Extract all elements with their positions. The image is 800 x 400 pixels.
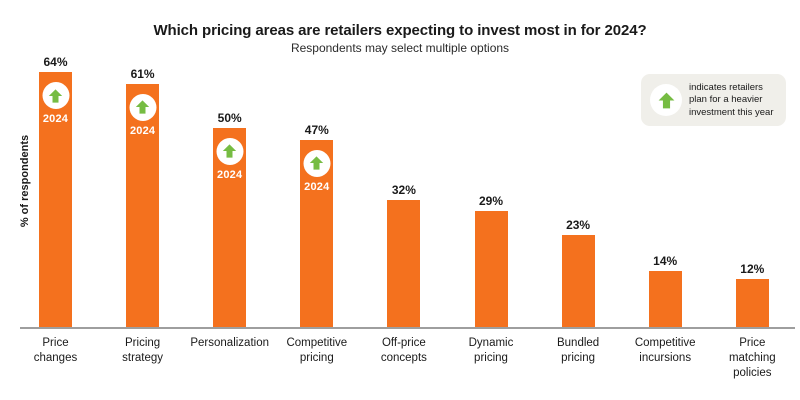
up-arrow-icon — [303, 150, 330, 177]
x-axis-tick-label-line: incursions — [617, 351, 714, 366]
x-axis-tick-label-line: Off-price — [355, 336, 452, 351]
bar-value-label: 14% — [625, 254, 706, 268]
bar-year-label: 2024 — [203, 169, 256, 181]
bar-value-label: 23% — [538, 218, 619, 232]
up-arrow-icon — [216, 138, 243, 165]
x-axis-tick-label: Pricematchingpolicies — [704, 336, 800, 381]
x-axis-tick-label-line: Competitive — [268, 336, 365, 351]
x-axis-tick-label: Pricingstrategy — [94, 336, 191, 366]
x-axis-tick-label: Dynamicpricing — [443, 336, 540, 366]
x-axis-tick-label-line: Competitive — [617, 336, 714, 351]
chart-container: Which pricing areas are retailers expect… — [0, 0, 800, 400]
x-axis-tick-label-line: Bundled — [530, 336, 627, 351]
x-axis-tick-label-line: concepts — [355, 351, 452, 366]
bar-value-label: 50% — [189, 111, 270, 125]
bar-value-label: 61% — [102, 67, 183, 81]
x-axis-tick-label: Bundledpricing — [530, 336, 627, 366]
bar[interactable] — [39, 72, 72, 327]
x-axis-tick-label: Pricechanges — [7, 336, 104, 366]
bar-value-label: 29% — [451, 194, 532, 208]
legend-box: indicates retailers plan for a heavier i… — [641, 74, 786, 126]
x-axis-tick-label-line: Dynamic — [443, 336, 540, 351]
bar-value-label: 64% — [15, 55, 96, 69]
x-axis-tick-label-line: policies — [704, 366, 800, 381]
legend-line-3: investment this year — [689, 107, 784, 119]
bar[interactable] — [736, 279, 769, 327]
x-axis-tick-label-line: strategy — [94, 351, 191, 366]
up-arrow-icon — [42, 82, 69, 109]
x-axis-tick-label-line: matching — [704, 351, 800, 366]
x-axis-tick-label-line: pricing — [530, 351, 627, 366]
legend-line-2: plan for a heavier — [689, 94, 784, 106]
x-axis-tick-label: Competitivepricing — [268, 336, 365, 366]
bar-value-label: 12% — [712, 262, 793, 276]
legend-line-1: indicates retailers — [689, 82, 784, 94]
bar[interactable] — [562, 235, 595, 327]
x-axis-tick-label: Personalization — [181, 336, 278, 351]
x-axis-tick-label-line: Price — [7, 336, 104, 351]
bar[interactable] — [387, 200, 420, 328]
bar[interactable] — [649, 271, 682, 327]
bar[interactable] — [475, 211, 508, 327]
x-axis-tick-label-line: Personalization — [181, 336, 278, 351]
x-axis-tick-label: Off-priceconcepts — [355, 336, 452, 366]
bar-value-label: 47% — [276, 123, 357, 137]
x-axis-tick-label-line: pricing — [443, 351, 540, 366]
x-axis-tick-label: Competitiveincursions — [617, 336, 714, 366]
x-axis-tick-label-line: Pricing — [94, 336, 191, 351]
x-axis-tick-label-line: Price — [704, 336, 800, 351]
x-axis-tick-label-line: changes — [7, 351, 104, 366]
legend-text: indicates retailers plan for a heavier i… — [689, 82, 784, 119]
up-arrow-icon — [650, 84, 682, 116]
bar-year-label: 2024 — [116, 125, 169, 137]
up-arrow-icon — [129, 94, 156, 121]
x-axis-tick-label-line: pricing — [268, 351, 365, 366]
bar-year-label: 2024 — [290, 181, 343, 193]
bar-year-label: 2024 — [29, 113, 82, 125]
plot-area: 64%202461%202450%202447%202432%29%23%14%… — [0, 0, 800, 400]
bar-value-label: 32% — [363, 183, 444, 197]
